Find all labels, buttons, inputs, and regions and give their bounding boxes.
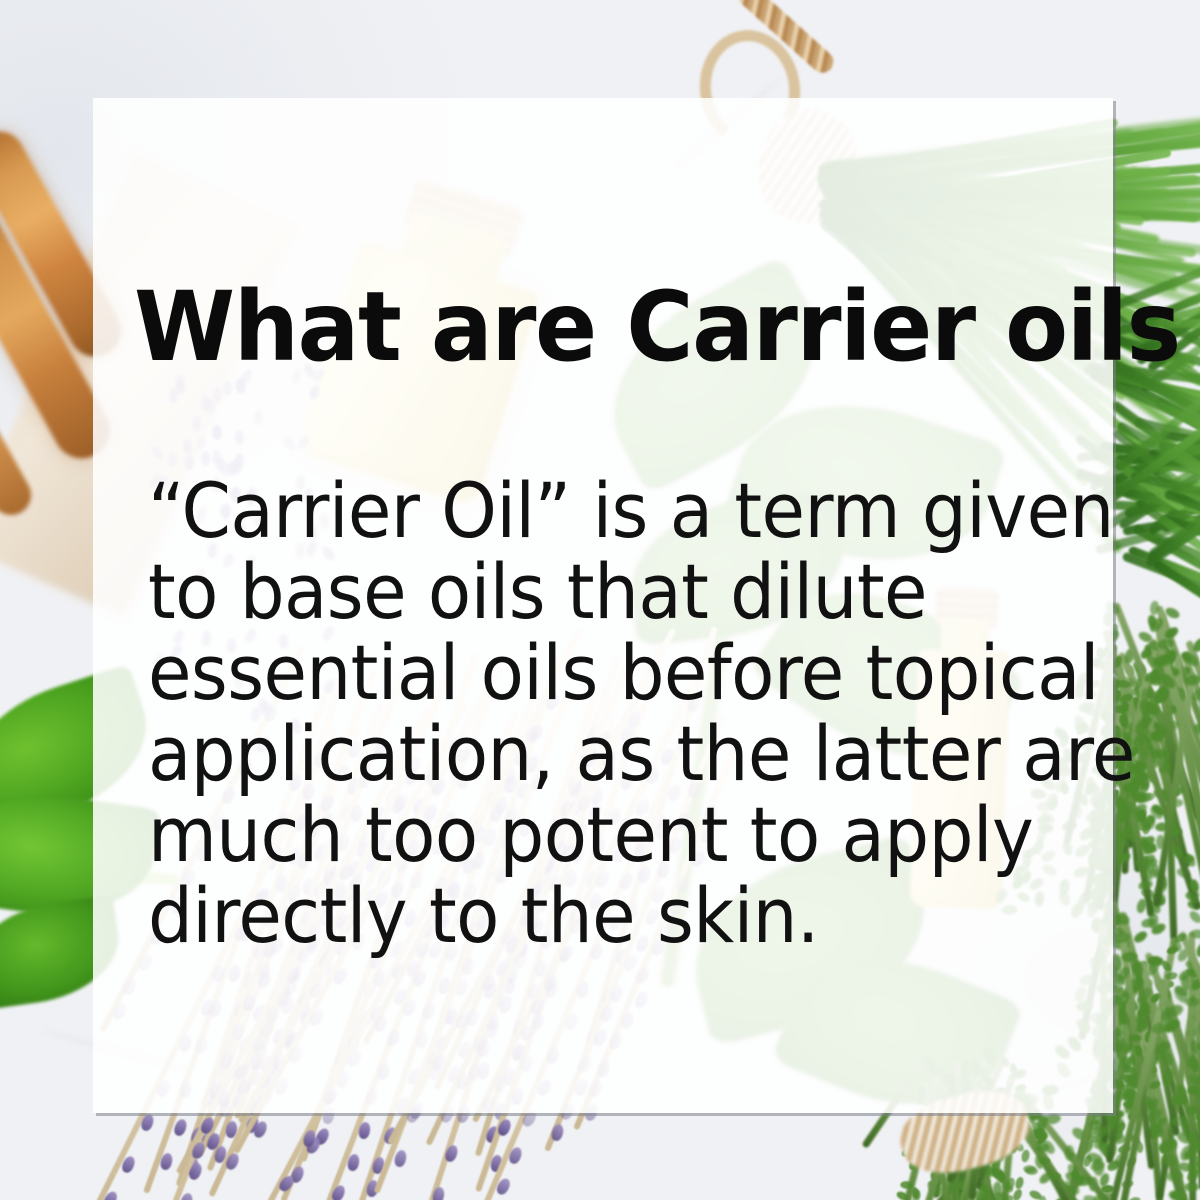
thyme-leaf xyxy=(1064,1145,1074,1161)
thyme-leaf xyxy=(1141,821,1151,835)
thyme-leaf xyxy=(1165,971,1178,981)
body-line: much too potent to apply xyxy=(148,794,1022,875)
body-paragraph: “Carrier Oil” is a term given to base oi… xyxy=(148,470,1088,956)
thyme-leaf xyxy=(1021,1149,1031,1163)
page-title: What are Carrier oils ? xyxy=(134,279,1051,375)
body-line: directly to the skin. xyxy=(148,875,1022,956)
thyme-leaf xyxy=(1184,1183,1199,1192)
thyme-leaf xyxy=(1025,1167,1038,1175)
body-line: application, as the latter are xyxy=(148,713,1022,794)
thyme-leaf xyxy=(1132,929,1149,945)
body-line: “Carrier Oil” is a term given xyxy=(148,470,1022,551)
body-line: to base oils that dilute xyxy=(148,551,1022,632)
thyme-leaf xyxy=(1038,1195,1046,1200)
thyme-leaf xyxy=(1127,1196,1141,1200)
body-line: essential oils before topical xyxy=(148,632,1022,713)
thyme-leaf xyxy=(1014,1176,1025,1190)
infographic-card: What are Carrier oils ? “Carrier Oil” is… xyxy=(0,0,1200,1200)
thyme-leaf xyxy=(1187,909,1200,925)
